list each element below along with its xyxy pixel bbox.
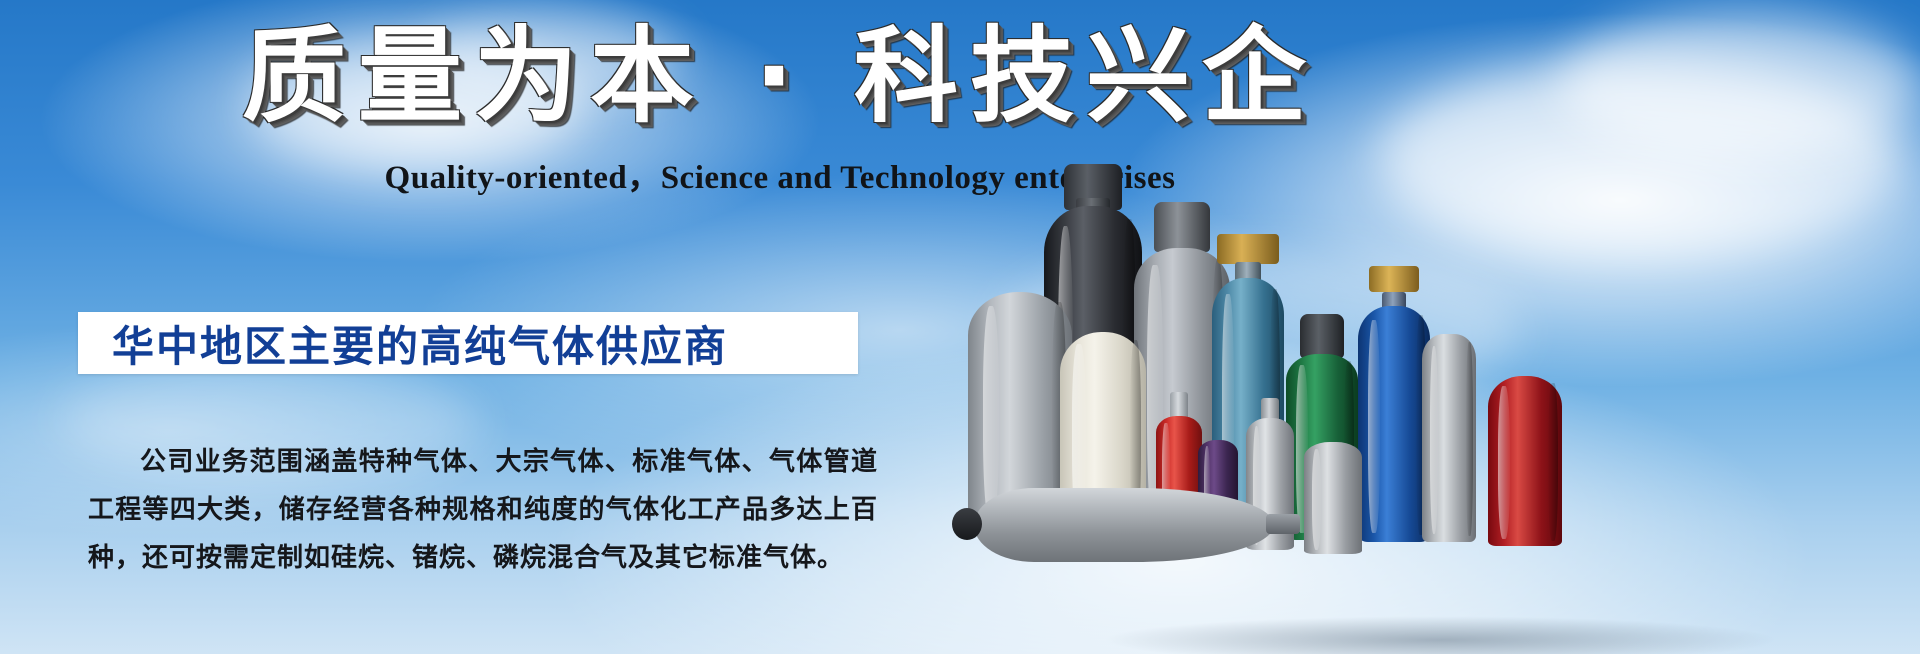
- silver-cylinder: [1422, 334, 1476, 542]
- cylinder-valve: [1369, 266, 1419, 292]
- lying-grey-cylinder: [974, 488, 1274, 562]
- tagline-text: 华中地区主要的高纯气体供应商: [78, 313, 728, 374]
- cylinder-cap: [1300, 314, 1344, 358]
- cylinder-body: [1358, 306, 1430, 542]
- blue-cylinder: [1358, 306, 1430, 542]
- silver-cylinder: [1304, 442, 1362, 554]
- cylinder-cap: [952, 508, 982, 540]
- cylinder-cap: [1154, 202, 1210, 252]
- cylinder-valve: [1217, 234, 1279, 264]
- gas-cylinders-photo: [940, 0, 1920, 654]
- cylinder-body: [1488, 376, 1562, 546]
- cylinder-body: [1304, 442, 1362, 554]
- tagline-box: 华中地区主要的高纯气体供应商: [78, 312, 858, 374]
- description-paragraph: 公司业务范围涵盖特种气体、大宗气体、标准气体、气体管道工程等四大类，储存经营各种…: [88, 438, 878, 582]
- promotional-banner: 质量为本 · 科技兴企 Quality-oriented，Science and…: [0, 0, 1920, 654]
- cylinder-body: [1422, 334, 1476, 542]
- cylinder-valve: [1266, 514, 1300, 534]
- ground-shadow: [960, 582, 1920, 654]
- crimson-cylinder: [1488, 376, 1562, 546]
